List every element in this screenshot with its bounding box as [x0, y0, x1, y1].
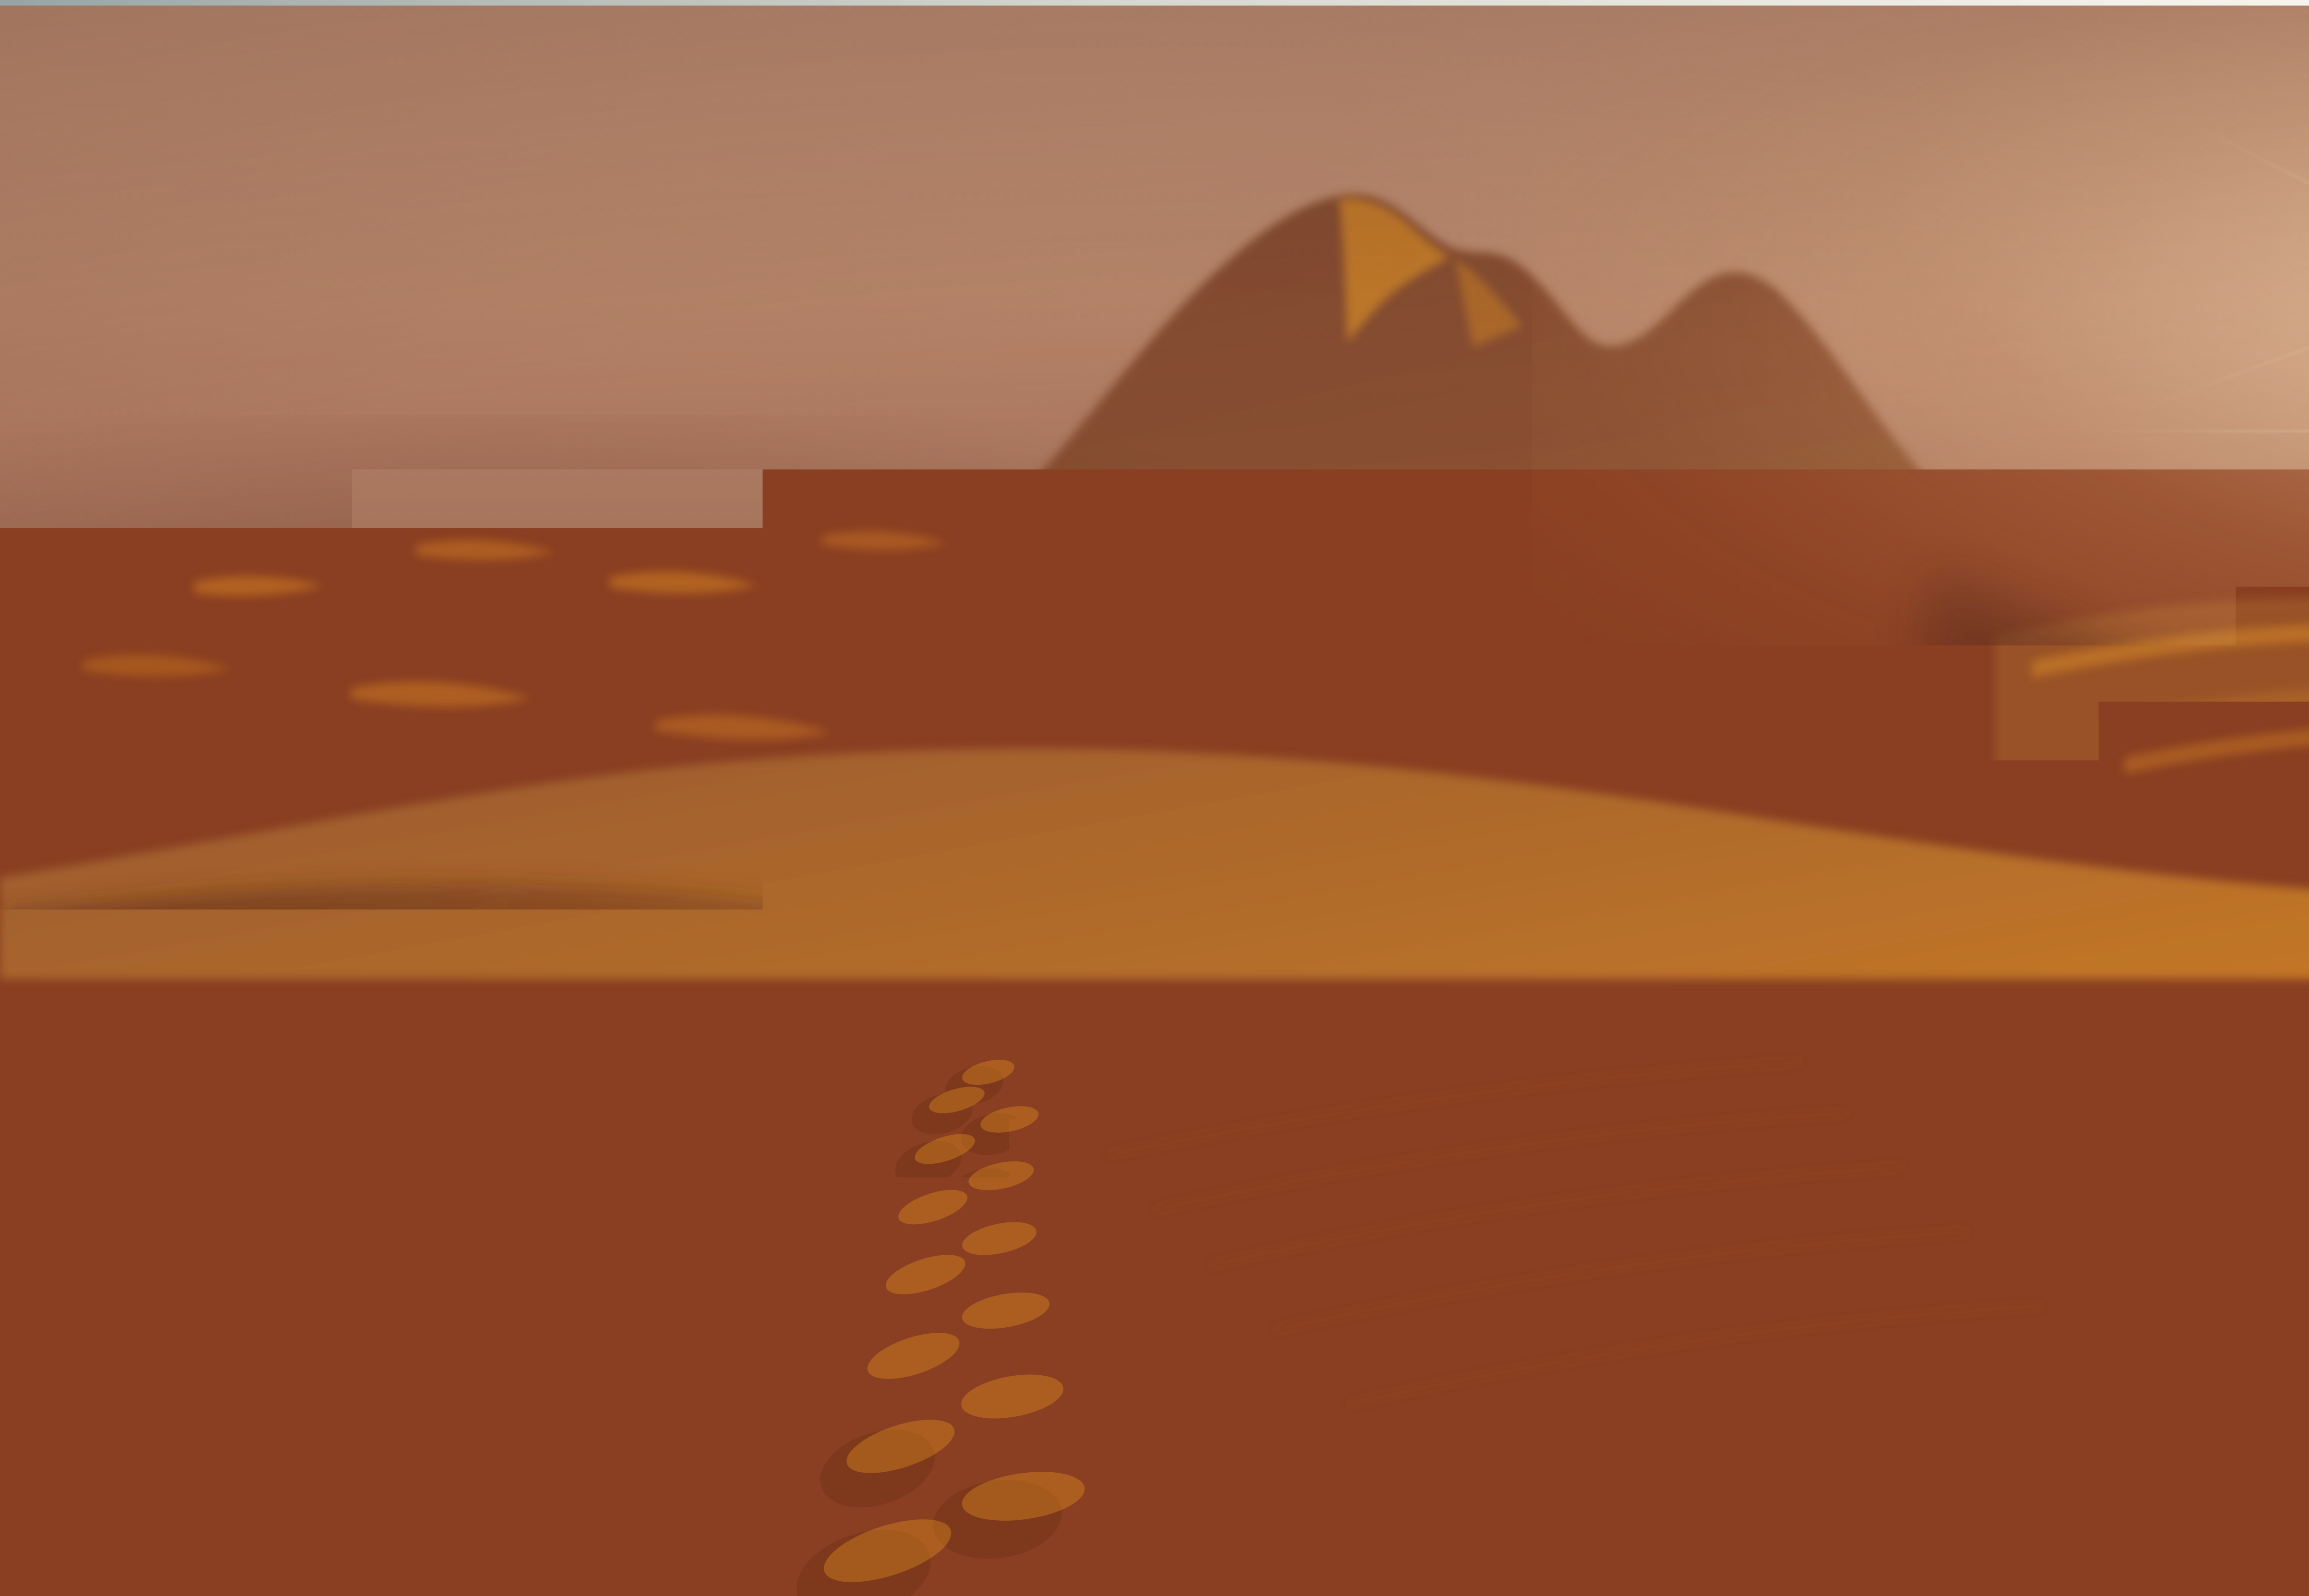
subtitle-line-1: A Middle Eastern Perspective on	[255, 730, 1428, 819]
page-title: Our Land, Our Future:	[255, 575, 1428, 690]
top-edge-strip	[0, 0, 2309, 6]
subtitle-line-2: World Environment Day 2024	[255, 819, 1428, 907]
world-environment-day-banner: Our Land, Our Future: A Middle Eastern P…	[0, 0, 2309, 1596]
page-subtitle: A Middle Eastern Perspective on World En…	[255, 730, 1428, 908]
headline-block: Our Land, Our Future: A Middle Eastern P…	[255, 575, 1428, 908]
